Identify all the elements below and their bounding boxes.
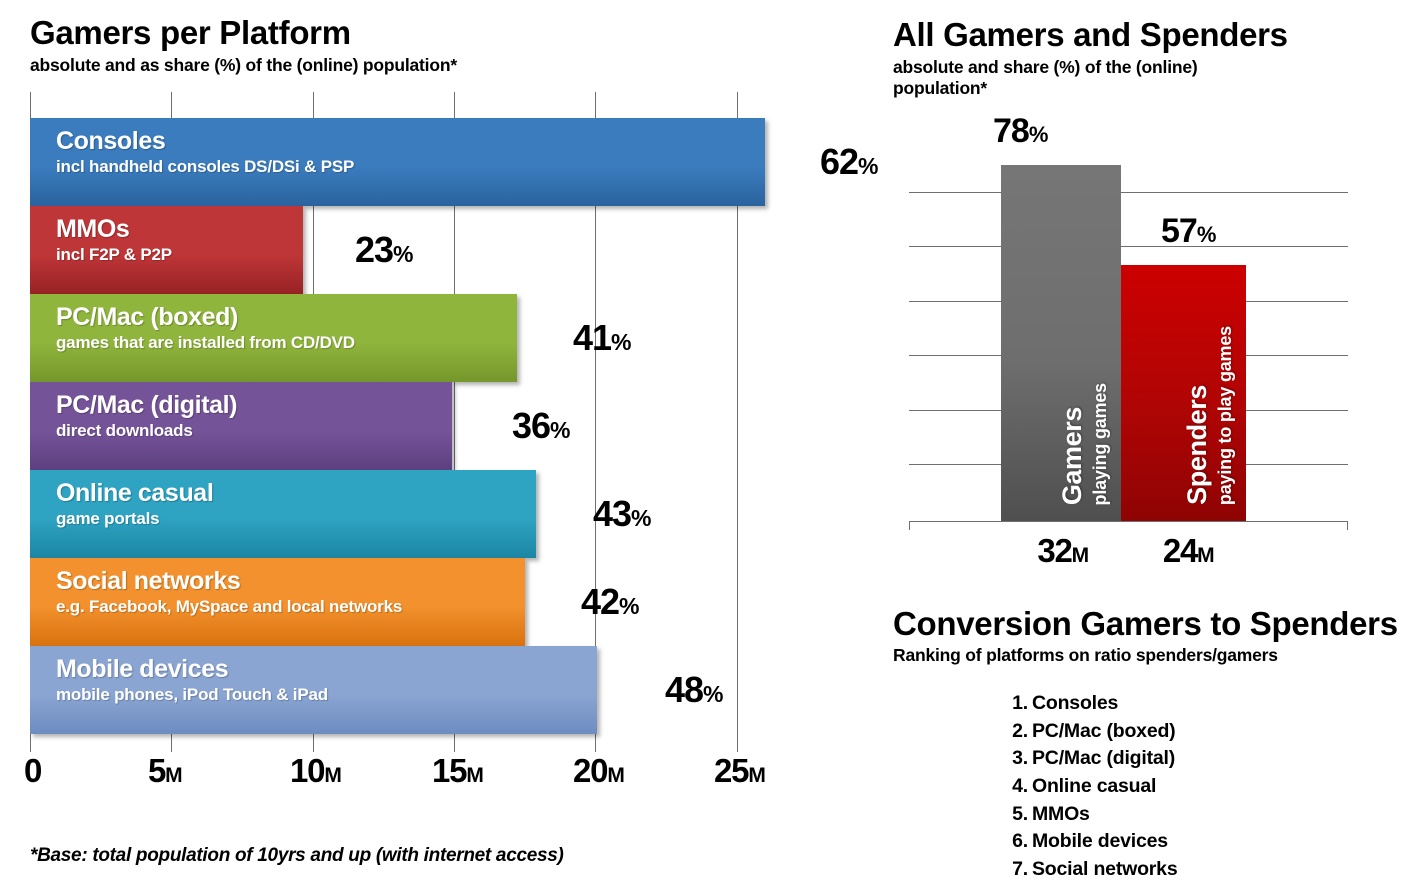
- horizontal-bar-chart: Consolesincl handheld consoles DS/DSi & …: [30, 92, 737, 752]
- axis-tick-label: 0: [24, 752, 41, 790]
- bar-percent-label: 36%: [512, 405, 570, 447]
- bar-social-networks[interactable]: Social networkse.g. Facebook, MySpace an…: [30, 558, 525, 646]
- column-vertical-labels: playing gamesGamers: [1057, 149, 1111, 505]
- column-gamers[interactable]: playing gamesGamers: [1001, 165, 1121, 521]
- bar-percent-label: 23%: [355, 229, 413, 271]
- conversion-ranking-list: 1.Consoles2.PC/Mac (boxed)3.PC/Mac (digi…: [1002, 690, 1177, 884]
- x-axis-ticks: 05M10M15M20M25M: [0, 752, 880, 812]
- list-item-number: 7.: [1002, 856, 1028, 884]
- column-percent-label: 57%: [1161, 212, 1216, 251]
- column-label-description: paying to play games: [1215, 326, 1236, 505]
- bar-label-name: MMOs: [56, 215, 303, 243]
- axis-cap-right: [1347, 521, 1348, 530]
- bar-mmos[interactable]: MMOsincl F2P & P2P: [30, 206, 303, 294]
- list-item-number: 4.: [1002, 773, 1028, 801]
- column-gridline: [909, 192, 1348, 193]
- list-item-number: 2.: [1002, 718, 1028, 746]
- bar-percent-label: 62%: [820, 141, 878, 183]
- list-item: 5.MMOs: [1032, 801, 1177, 829]
- list-item-number: 5.: [1002, 801, 1028, 829]
- bar-consoles[interactable]: Consolesincl handheld consoles DS/DSi & …: [30, 118, 765, 206]
- bar-row: Online casualgame portals43%: [30, 470, 737, 558]
- column-gridline: [909, 246, 1348, 247]
- column-vertical-labels: paying to play gamesSpenders: [1182, 249, 1236, 505]
- all-gamers-and-spenders-panel: All Gamers and Spenders absolute and sha…: [880, 0, 1404, 895]
- axis-tick-label: 15M: [432, 752, 483, 790]
- bar-label-name: Consoles: [56, 127, 765, 155]
- conversion-title: Conversion Gamers to Spenders: [893, 607, 1398, 642]
- list-item-label: Online casual: [1032, 775, 1156, 797]
- bar-row: PC/Mac (boxed)games that are installed f…: [30, 294, 737, 382]
- axis-tick-label: 20M: [573, 752, 624, 790]
- list-item: 4.Online casual: [1032, 773, 1177, 801]
- list-item-label: PC/Mac (digital): [1032, 747, 1175, 769]
- bar-label-description: games that are installed from CD/DVD: [56, 333, 517, 353]
- column-chart-baseline: [909, 521, 1348, 522]
- column-label-description: playing games: [1090, 383, 1111, 505]
- page-subtitle: absolute and as share (%) of the (online…: [30, 55, 650, 76]
- bar-row: Consolesincl handheld consoles DS/DSi & …: [30, 118, 737, 206]
- column-chart: playing gamesGamers78%32Mpaying to play …: [893, 160, 1348, 525]
- bar-label-description: direct downloads: [56, 421, 452, 441]
- list-item: 3.PC/Mac (digital): [1032, 745, 1177, 773]
- bar-label-name: Online casual: [56, 479, 536, 507]
- axis-cap-left: [909, 521, 910, 530]
- column-absolute-label: 24M: [1111, 532, 1266, 570]
- bar-row: Social networkse.g. Facebook, MySpace an…: [30, 558, 737, 646]
- bar-label-name: Social networks: [56, 567, 525, 595]
- column-percent-label: 78%: [993, 112, 1048, 151]
- list-item-label: Mobile devices: [1032, 830, 1168, 852]
- axis-tick-label: 10M: [290, 752, 341, 790]
- bar-label-description: e.g. Facebook, MySpace and local network…: [56, 597, 525, 617]
- list-item: 1.Consoles: [1032, 690, 1177, 718]
- gamers-per-platform-panel: Gamers per Platform absolute and as shar…: [0, 0, 880, 895]
- axis-tick-label: 25M: [714, 752, 765, 790]
- list-item-label: PC/Mac (boxed): [1032, 720, 1175, 742]
- bar-pc-mac-digital[interactable]: PC/Mac (digital)direct downloads: [30, 382, 452, 470]
- column-spenders[interactable]: paying to play gamesSpenders: [1121, 265, 1246, 521]
- axis-tick-label: 5M: [148, 752, 182, 790]
- bar-online-casual[interactable]: Online casualgame portals: [30, 470, 536, 558]
- column-label-name: Spenders: [1182, 385, 1213, 505]
- right-panel-title: All Gamers and Spenders: [893, 18, 1288, 53]
- list-item: 2.PC/Mac (boxed): [1032, 718, 1177, 746]
- bar-mobile-devices[interactable]: Mobile devicesmobile phones, iPod Touch …: [30, 646, 597, 734]
- list-item-number: 3.: [1002, 745, 1028, 773]
- footnote: *Base: total population of 10yrs and up …: [30, 845, 564, 867]
- list-item-label: Consoles: [1032, 692, 1118, 714]
- conversion-subtitle: Ranking of platforms on ratio spenders/g…: [893, 645, 1278, 666]
- list-item: 7.Social networks: [1032, 856, 1177, 884]
- bar-row: Mobile devicesmobile phones, iPod Touch …: [30, 646, 737, 734]
- right-panel-subtitle: absolute and share (%) of the (online) p…: [893, 57, 1223, 100]
- bar-pc-mac-boxed[interactable]: PC/Mac (boxed)games that are installed f…: [30, 294, 517, 382]
- page-title: Gamers per Platform: [30, 16, 351, 51]
- list-item-number: 1.: [1002, 690, 1028, 718]
- bar-label-description: incl handheld consoles DS/DSi & PSP: [56, 157, 765, 177]
- bar-label-name: PC/Mac (boxed): [56, 303, 517, 331]
- bar-label-description: incl F2P & P2P: [56, 245, 303, 265]
- bar-row: MMOsincl F2P & P2P23%: [30, 206, 737, 294]
- bar-rows: Consolesincl handheld consoles DS/DSi & …: [30, 92, 737, 752]
- bar-label-name: PC/Mac (digital): [56, 391, 452, 419]
- bar-percent-label: 43%: [593, 493, 651, 535]
- bar-label-description: mobile phones, iPod Touch & iPad: [56, 685, 597, 705]
- list-item-number: 6.: [1002, 828, 1028, 856]
- column-label-name: Gamers: [1057, 407, 1088, 505]
- bar-row: PC/Mac (digital)direct downloads36%: [30, 382, 737, 470]
- bar-percent-label: 48%: [665, 669, 723, 711]
- bar-label-description: game portals: [56, 509, 536, 529]
- bar-label-name: Mobile devices: [56, 655, 597, 683]
- list-item: 6.Mobile devices: [1032, 828, 1177, 856]
- list-item-label: Social networks: [1032, 858, 1177, 880]
- bar-percent-label: 41%: [573, 317, 631, 359]
- bar-percent-label: 42%: [581, 581, 639, 623]
- list-item-label: MMOs: [1032, 803, 1090, 825]
